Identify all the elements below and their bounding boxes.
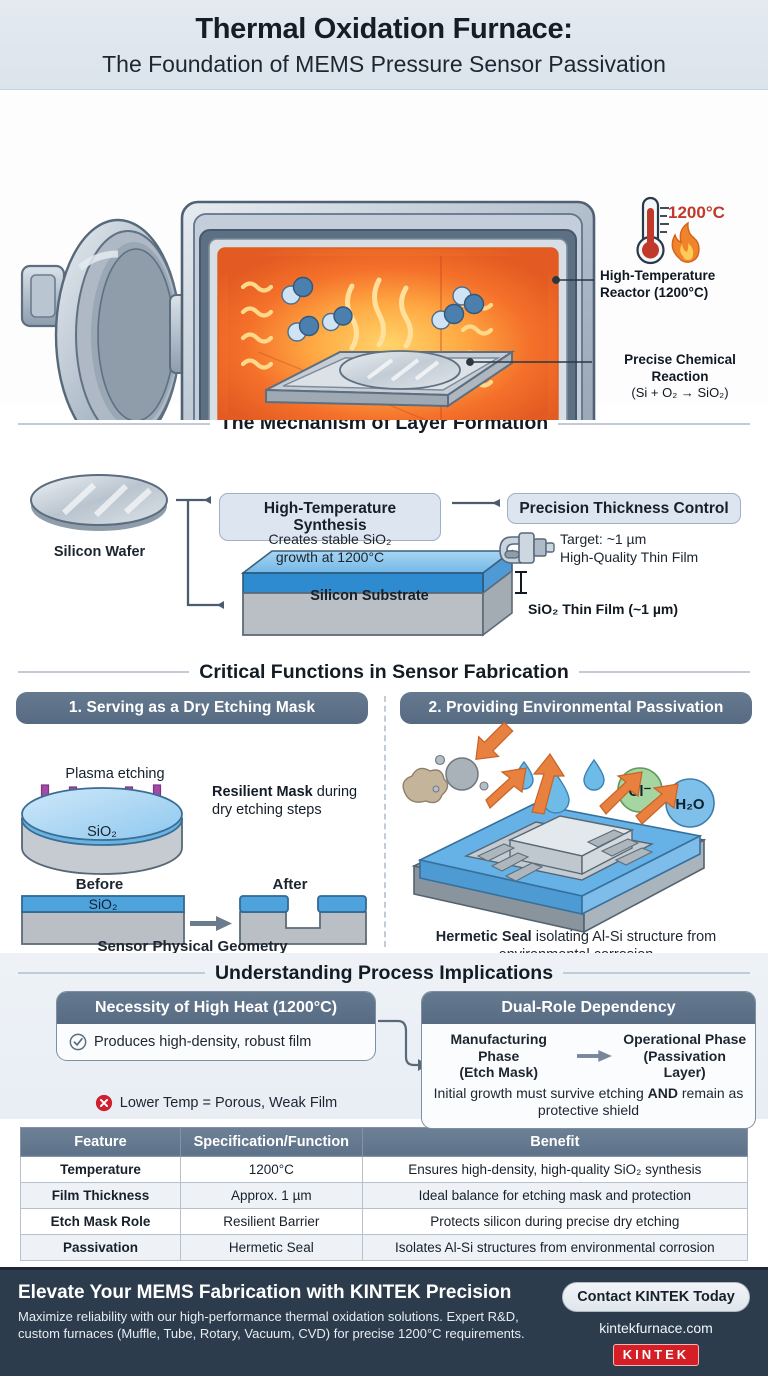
rule-right (558, 423, 750, 425)
high-heat-positive-row: Produces high-density, robust film (57, 1024, 375, 1060)
thickness-marker-icon (515, 572, 527, 593)
row0-feature: Temperature (21, 1156, 181, 1182)
before-label: Before (22, 876, 177, 893)
step-precision-thickness-control[interactable]: Precision Thickness Control (507, 493, 741, 524)
dual-role-note-bold: AND (648, 1085, 678, 1101)
manufacturing-phase-line1: Manufacturing Phase (430, 1031, 567, 1064)
dust-particle-icon (403, 768, 447, 802)
row3-benefit: Isolates Al-Si structures from environme… (362, 1234, 747, 1260)
svg-text:H₂O: H₂O (675, 796, 704, 813)
before-sio2-layer-label: SiO₂ (22, 896, 184, 912)
step1-desc-line2: growth at 1200°C (219, 548, 441, 566)
col-specification: Specification/Function (180, 1127, 362, 1156)
after-cross-section (240, 896, 366, 944)
implications-section: Understanding Process Implications Neces… (0, 953, 768, 1119)
after-label: After (210, 876, 370, 893)
temperature-badge: 1200°C (668, 203, 725, 223)
callout-reactor-rest: Reactor (1200°C) (600, 285, 708, 300)
page-title: Thermal Oxidation Furnace: (10, 14, 758, 46)
step1-description: Creates stable SiO₂ growth at 1200°C (219, 530, 441, 566)
rule-right (563, 972, 750, 974)
dual-role-phases: Manufacturing Phase (Etch Mask) Operatio… (422, 1024, 755, 1083)
resilient-mask-bold: Resilient Mask (212, 784, 313, 800)
website-link[interactable]: kintekfurnace.com (562, 1320, 750, 1336)
micrometer-icon (500, 533, 554, 563)
table-row: Temperature 1200°C Ensures high-density,… (21, 1156, 748, 1182)
callout-reactor-bold: High-Temperature (600, 268, 715, 283)
furnace-door (22, 220, 192, 420)
dual-role-heading: Dual-Role Dependency (422, 992, 755, 1024)
row1-feature: Film Thickness (21, 1182, 181, 1208)
row3-spec: Hermetic Seal (180, 1234, 362, 1260)
footer-body: Maximize reliability with our high-perfo… (18, 1308, 550, 1342)
summary-table-wrap: Feature Specification/Function Benefit T… (0, 1119, 768, 1267)
box-high-heat: Necessity of High Heat (1200°C) Produces… (56, 991, 376, 1061)
table-row: Film Thickness Approx. 1 µm Ideal balanc… (21, 1182, 748, 1208)
table-row: Passivation Hermetic Seal Isolates Al-Si… (21, 1234, 748, 1260)
rule-left (18, 671, 189, 673)
step1-desc-line1: Creates stable SiO₂ (219, 530, 441, 548)
rule-left (18, 423, 210, 425)
furnace-hero: 1200°C High-Temperature Reactor (1200°C)… (0, 90, 768, 403)
check-circle-icon (69, 1033, 87, 1051)
critical-functions: 1. Serving as a Dry Etching Mask (0, 690, 768, 953)
operational-phase: Operational Phase (Passivation Layer) (622, 1031, 747, 1081)
thermometer-icon (638, 198, 670, 263)
step2-desc-line1: Target: ~1 µm (560, 530, 745, 548)
silicon-wafer-label: Silicon Wafer (22, 544, 177, 560)
page-header: Thermal Oxidation Furnace: The Foundatio… (0, 0, 768, 90)
dual-role-note: Initial growth must survive etching AND … (422, 1083, 755, 1128)
hermetic-seal-bold: Hermetic Seal (436, 929, 532, 945)
rule-left (18, 972, 205, 974)
callout-reaction-line2: Reaction (600, 369, 760, 385)
dual-role-note-pre: Initial growth must survive etching (434, 1085, 648, 1101)
step2-description: Target: ~1 µm High-Quality Thin Film (560, 530, 745, 566)
panel-passivation: 2. Providing Environmental Passivation (384, 690, 768, 953)
high-heat-negative-row: Lower Temp = Porous, Weak Film (56, 1094, 376, 1112)
operational-phase-line2: (Passivation Layer) (622, 1048, 747, 1081)
disc-sio2-label: SiO₂ (22, 824, 182, 840)
phase-arrow-icon (577, 1048, 612, 1064)
resilient-mask-note: Resilient Mask during dry etching steps (212, 783, 377, 821)
footer-cta-block: Contact KINTEK Today kintekfurnace.com K… (562, 1282, 750, 1366)
row1-benefit: Ideal balance for etching mask and prote… (362, 1182, 747, 1208)
critical-title: Critical Functions in Sensor Fabrication (199, 661, 568, 684)
col-benefit: Benefit (362, 1127, 747, 1156)
callout-reaction-formula: (Si + O₂ → SiO₂) (600, 385, 760, 401)
section-title-implications: Understanding Process Implications (0, 953, 768, 991)
x-circle-icon (95, 1094, 113, 1112)
plasma-etching-label: Plasma etching (30, 766, 200, 782)
footer-headline: Elevate Your MEMS Fabrication with KINTE… (18, 1282, 550, 1303)
operational-phase-line1: Operational Phase (622, 1031, 747, 1048)
col-feature: Feature (21, 1127, 181, 1156)
contact-kintek-button[interactable]: Contact KINTEK Today (562, 1282, 750, 1312)
panel-etch-mask: 1. Serving as a Dry Etching Mask (0, 690, 384, 953)
sensor-geometry-label: Sensor Physical Geometry (10, 938, 375, 955)
footer-text-block: Elevate Your MEMS Fabrication with KINTE… (18, 1282, 550, 1366)
silicon-substrate-label: Silicon Substrate (232, 588, 507, 604)
implications-title: Understanding Process Implications (215, 962, 553, 985)
row3-feature: Passivation (21, 1234, 181, 1260)
high-heat-negative-text: Lower Temp = Porous, Weak Film (120, 1095, 337, 1111)
row0-benefit: Ensures high-density, high-quality SiO₂ … (362, 1156, 747, 1182)
flame-icon (672, 223, 699, 262)
before-after-arrow (190, 916, 232, 931)
kintek-logo: KINTEK (613, 1344, 699, 1366)
table-row: Etch Mask Role Resilient Barrier Protect… (21, 1208, 748, 1234)
callout-reaction: Precise Chemical Reaction (Si + O₂ → SiO… (600, 352, 760, 401)
summary-table: Feature Specification/Function Benefit T… (20, 1127, 748, 1261)
sio2-thin-film-label: SiO₂ Thin Film (~1 µm) (528, 601, 678, 617)
silicon-wafer-icon (31, 475, 167, 531)
mechanism-diagram: High-Temperature Synthesis Precision Thi… (0, 441, 768, 651)
step2-desc-line2: High-Quality Thin Film (560, 548, 745, 566)
row2-spec: Resilient Barrier (180, 1208, 362, 1234)
row2-benefit: Protects silicon during precise dry etch… (362, 1208, 747, 1234)
row0-spec: 1200°C (180, 1156, 362, 1182)
infographic-page: Thermal Oxidation Furnace: The Foundatio… (0, 0, 768, 1376)
table-header-row: Feature Specification/Function Benefit (21, 1127, 748, 1156)
footer-cta-bar: Elevate Your MEMS Fabrication with KINTE… (0, 1267, 768, 1376)
implications-boxes: Necessity of High Heat (1200°C) Produces… (14, 991, 754, 1111)
manufacturing-phase: Manufacturing Phase (Etch Mask) (430, 1031, 567, 1081)
page-subtitle: The Foundation of MEMS Pressure Sensor P… (10, 51, 758, 77)
high-heat-heading: Necessity of High Heat (1200°C) (57, 992, 375, 1024)
callout-reactor: High-Temperature Reactor (1200°C) (600, 268, 760, 301)
box-dual-role: Dual-Role Dependency Manufacturing Phase… (421, 991, 756, 1129)
high-heat-positive-text: Produces high-density, robust film (94, 1034, 311, 1050)
manufacturing-phase-line2: (Etch Mask) (430, 1064, 567, 1081)
row2-feature: Etch Mask Role (21, 1208, 181, 1234)
rule-right (579, 671, 750, 673)
row1-spec: Approx. 1 µm (180, 1182, 362, 1208)
mems-chip-illustration (414, 804, 704, 932)
callout-reaction-line1: Precise Chemical (600, 352, 760, 368)
